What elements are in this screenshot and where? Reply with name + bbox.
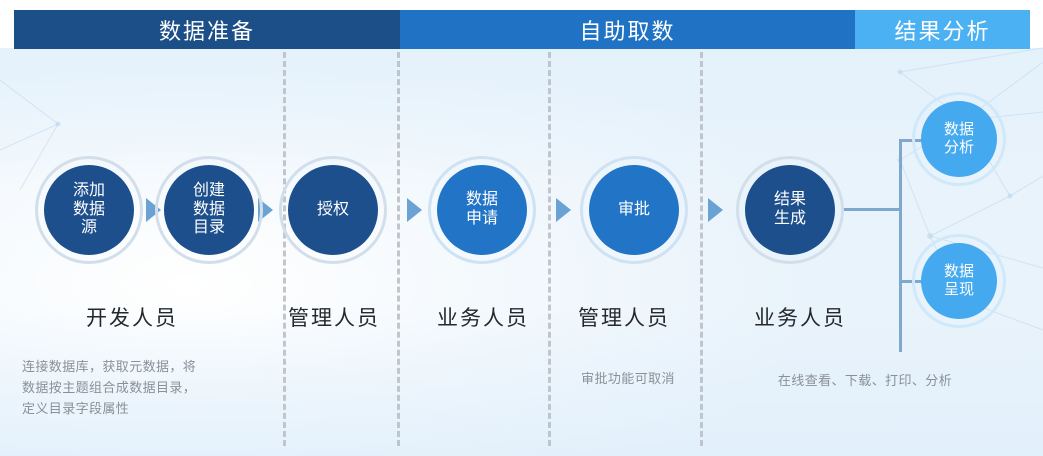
node-approval-label: 审批 xyxy=(614,201,654,220)
node-data-request-label: 数据 申请 xyxy=(462,191,502,229)
node-data-request[interactable]: 数据 申请 xyxy=(437,165,527,255)
lane-divider-2 xyxy=(397,52,400,446)
role-label-business-2: 业务人员 xyxy=(754,302,846,332)
node-add-source-label: 添加 数据 源 xyxy=(69,182,109,239)
node-authorize[interactable]: 授权 xyxy=(288,165,378,255)
flow-diagram: 数据准备 自助取数 结果分析 添加 数据 源 创建 数据 目录 授权 数据 申请… xyxy=(0,0,1043,456)
node-authorize-label: 授权 xyxy=(313,201,353,220)
node-create-catalog[interactable]: 创建 数据 目录 xyxy=(164,165,254,255)
node-data-presentation-label: 数据 呈现 xyxy=(940,263,978,298)
role-label-developer: 开发人员 xyxy=(86,302,178,332)
branch-stem xyxy=(842,208,902,211)
description-result: 在线查看、下载、打印、分析 xyxy=(778,370,952,391)
node-create-catalog-label: 创建 数据 目录 xyxy=(189,182,229,239)
node-approval[interactable]: 审批 xyxy=(589,165,679,255)
node-result-generation[interactable]: 结果 生成 xyxy=(745,165,835,255)
node-result-generation-label: 结果 生成 xyxy=(770,191,810,229)
role-label-business-1: 业务人员 xyxy=(437,302,529,332)
phase-tab-self-service-query[interactable]: 自助取数 xyxy=(400,10,855,49)
description-approval: 审批功能可取消 xyxy=(581,368,675,389)
arrow-authorize-to-request-icon xyxy=(407,198,422,222)
description-data-preparation: 连接数据库，获取元数据，将 数据按主题组合成数据目录， 定义目录字段属性 xyxy=(22,356,272,419)
role-label-admin-1: 管理人员 xyxy=(288,302,380,332)
phase-header-bar: 数据准备 自助取数 结果分析 xyxy=(14,10,1030,49)
node-data-analysis[interactable]: 数据 分析 xyxy=(921,101,997,177)
lane-divider-3 xyxy=(548,52,551,446)
role-label-admin-2: 管理人员 xyxy=(578,302,670,332)
branch-spine xyxy=(899,140,902,352)
phase-tab-data-preparation[interactable]: 数据准备 xyxy=(14,10,400,49)
lane-divider-1 xyxy=(283,52,286,446)
lane-divider-4 xyxy=(700,52,703,446)
arrow-approval-to-result-icon xyxy=(708,198,723,222)
node-data-analysis-label: 数据 分析 xyxy=(940,121,978,156)
arrow-request-to-approval-icon xyxy=(556,198,571,222)
node-add-source[interactable]: 添加 数据 源 xyxy=(44,165,134,255)
node-data-presentation[interactable]: 数据 呈现 xyxy=(921,243,997,319)
phase-tab-result-analysis[interactable]: 结果分析 xyxy=(855,10,1030,49)
